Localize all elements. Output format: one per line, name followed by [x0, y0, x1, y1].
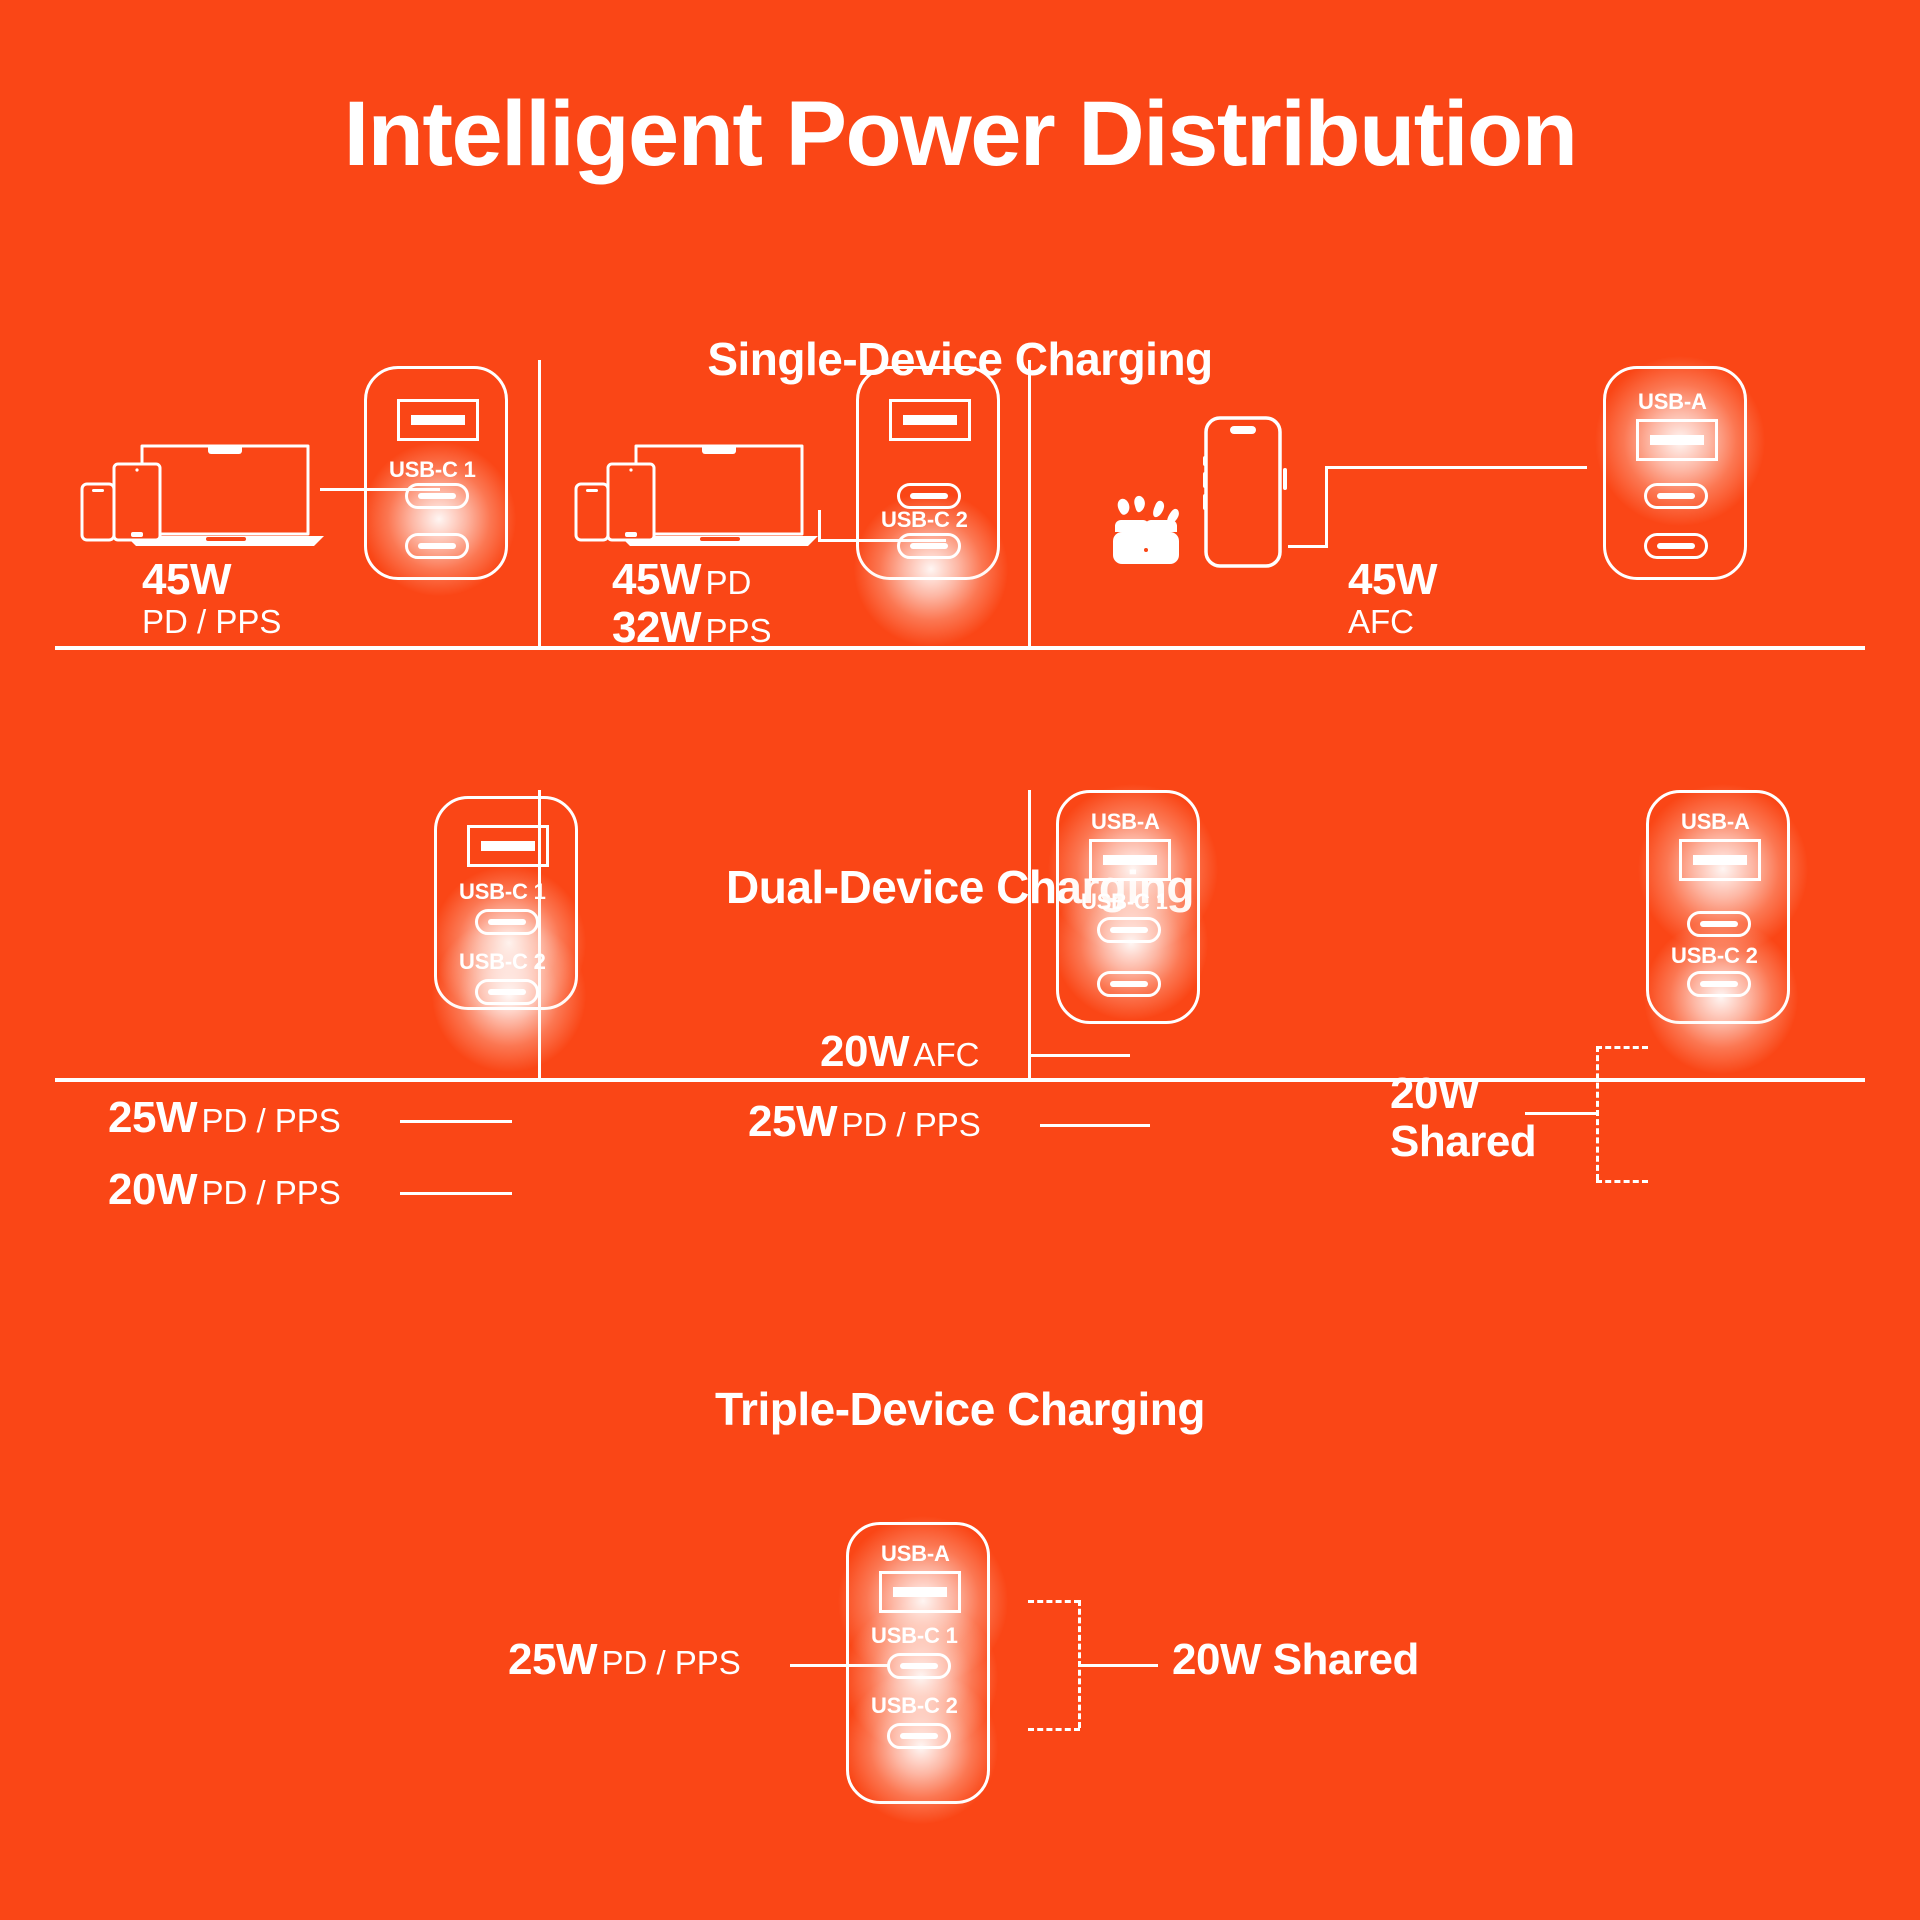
- power-protocol: PD: [705, 564, 751, 601]
- usb-a-port: [397, 399, 479, 441]
- section-heading-triple: Triple-Device Charging: [0, 1382, 1920, 1436]
- usb-c2-port: [887, 1723, 951, 1749]
- power-label-dual-2-row1: 20W AFC: [820, 1028, 979, 1076]
- leader-triple-right: [1078, 1664, 1158, 1667]
- usb-a-port: [1679, 839, 1761, 881]
- leader-dual-1-row1: [400, 1120, 512, 1123]
- shared-value: 20W Shared: [1172, 1635, 1419, 1684]
- power-value: 20W: [820, 1027, 909, 1076]
- dashed-bracket-top: [1596, 1046, 1648, 1049]
- power-value: 45W: [612, 555, 701, 604]
- power-label-triple-left: 25W PD / PPS: [508, 1636, 741, 1684]
- power-value-2: 32W: [612, 603, 701, 652]
- port-label-usb-c2: USB-C 2: [881, 507, 968, 533]
- dashed-bracket-bottom-triple: [1028, 1728, 1080, 1731]
- usb-a-port: [467, 825, 549, 867]
- column-divider-1a: [538, 360, 541, 646]
- charger-brick-single-2: USB-C 2: [856, 366, 1000, 580]
- shared-value: 20W: [1390, 1069, 1479, 1118]
- port-label-usb-c1: USB-C 1: [871, 1623, 958, 1649]
- port-label-usb-c2: USB-C 2: [871, 1693, 958, 1719]
- charger-brick-triple: USB-A USB-C 1 USB-C 2: [846, 1522, 990, 1804]
- power-label-dual-2-row2: 25W PD / PPS: [748, 1098, 981, 1146]
- power-protocol: PD / PPS: [601, 1644, 740, 1681]
- power-protocol: PD / PPS: [142, 603, 281, 640]
- power-label-dual-1-row1: 25W PD / PPS: [108, 1094, 341, 1142]
- charger-brick-single-1: USB-C 1: [364, 366, 508, 580]
- dashed-bracket-top-triple: [1028, 1600, 1080, 1603]
- power-label-single-3: 45W AFC: [1348, 556, 1437, 639]
- usb-c2-port: [1097, 971, 1161, 997]
- charger-brick-single-3: USB-A: [1603, 366, 1747, 580]
- usb-c1-port: [1097, 917, 1161, 943]
- usb-a-port: [879, 1571, 961, 1613]
- usb-a-port: [1089, 839, 1171, 881]
- leader-dual-3: [1525, 1112, 1597, 1115]
- usb-c1-port: [1687, 911, 1751, 937]
- usb-c1-port: [1644, 483, 1708, 509]
- phone-icon: [1200, 412, 1290, 572]
- power-protocol: AFC: [913, 1036, 979, 1073]
- power-value: 25W: [748, 1097, 837, 1146]
- cable-single-3-seg1: [1288, 545, 1328, 548]
- column-divider-1b: [1028, 360, 1031, 646]
- port-label-usb-a: USB-A: [881, 1541, 950, 1567]
- cable-single-2-seg1: [818, 510, 821, 542]
- port-label-usb-a: USB-A: [1638, 389, 1707, 415]
- column-divider-2b: [1028, 790, 1031, 1078]
- earbuds-icon: [1105, 488, 1187, 568]
- port-label-usb-c1: USB-C 1: [1081, 889, 1168, 915]
- port-label-usb-c1: USB-C 1: [459, 879, 546, 905]
- usb-a-port: [889, 399, 971, 441]
- usb-c2-port: [1644, 533, 1708, 559]
- port-label-usb-a: USB-A: [1091, 809, 1160, 835]
- cable-single-3-seg3: [1325, 466, 1587, 469]
- power-value: 25W: [508, 1635, 597, 1684]
- power-protocol-2: PPS: [705, 612, 771, 649]
- dashed-bracket-vertical: [1596, 1046, 1599, 1180]
- power-label-dual-1-row2: 20W PD / PPS: [108, 1166, 341, 1214]
- infographic-root: Intelligent Power Distribution Single-De…: [0, 0, 1920, 1920]
- usb-c2-port: [1687, 971, 1751, 997]
- power-value: 45W: [142, 555, 231, 604]
- port-label-usb-c2: USB-C 2: [1671, 943, 1758, 969]
- usb-c1-port: [405, 483, 469, 509]
- device-group-phone-tablet-laptop-2: [572, 432, 872, 572]
- charger-brick-dual-2: USB-A USB-C 1: [1056, 790, 1200, 1024]
- section-divider-2: [55, 1078, 1865, 1082]
- section-heading-dual: Dual-Device Charging: [0, 860, 1920, 914]
- power-protocol: AFC: [1348, 603, 1414, 640]
- charger-brick-dual-1: USB-C 1 USB-C 2: [434, 796, 578, 1010]
- leader-dual-2-row1: [1030, 1054, 1130, 1057]
- usb-c1-port: [475, 909, 539, 935]
- port-label-usb-a: USB-A: [1681, 809, 1750, 835]
- page-title: Intelligent Power Distribution: [0, 88, 1920, 180]
- power-protocol: PD / PPS: [201, 1174, 340, 1211]
- leader-dual-2-row2: [1040, 1124, 1150, 1127]
- usb-c2-port: [897, 533, 961, 559]
- power-label-dual-3: 20W Shared: [1390, 1070, 1536, 1165]
- usb-c2-port: [405, 533, 469, 559]
- power-label-single-2: 45W PD 32W PPS: [612, 556, 771, 651]
- shared-word: Shared: [1390, 1117, 1536, 1166]
- dashed-bracket-bottom: [1596, 1180, 1648, 1183]
- section-divider-1: [55, 646, 1865, 650]
- port-label-usb-c1: USB-C 1: [389, 457, 476, 483]
- cable-single-3-seg2: [1325, 466, 1328, 548]
- device-group-phone-tablet-laptop: [78, 432, 378, 572]
- usb-a-port: [1636, 419, 1718, 461]
- leader-dual-1-row2: [400, 1192, 512, 1195]
- usb-c1-port: [887, 1653, 951, 1679]
- power-value: 45W: [1348, 555, 1437, 604]
- usb-c1-port: [897, 483, 961, 509]
- port-label-usb-c2: USB-C 2: [459, 949, 546, 975]
- power-protocol: PD / PPS: [841, 1106, 980, 1143]
- power-label-triple-right: 20W Shared: [1172, 1636, 1419, 1684]
- power-label-single-1: 45W PD / PPS: [142, 556, 281, 639]
- power-value: 20W: [108, 1165, 197, 1214]
- charger-brick-dual-3: USB-A USB-C 2: [1646, 790, 1790, 1024]
- power-value: 25W: [108, 1093, 197, 1142]
- power-protocol: PD / PPS: [201, 1102, 340, 1139]
- usb-c2-port: [475, 979, 539, 1005]
